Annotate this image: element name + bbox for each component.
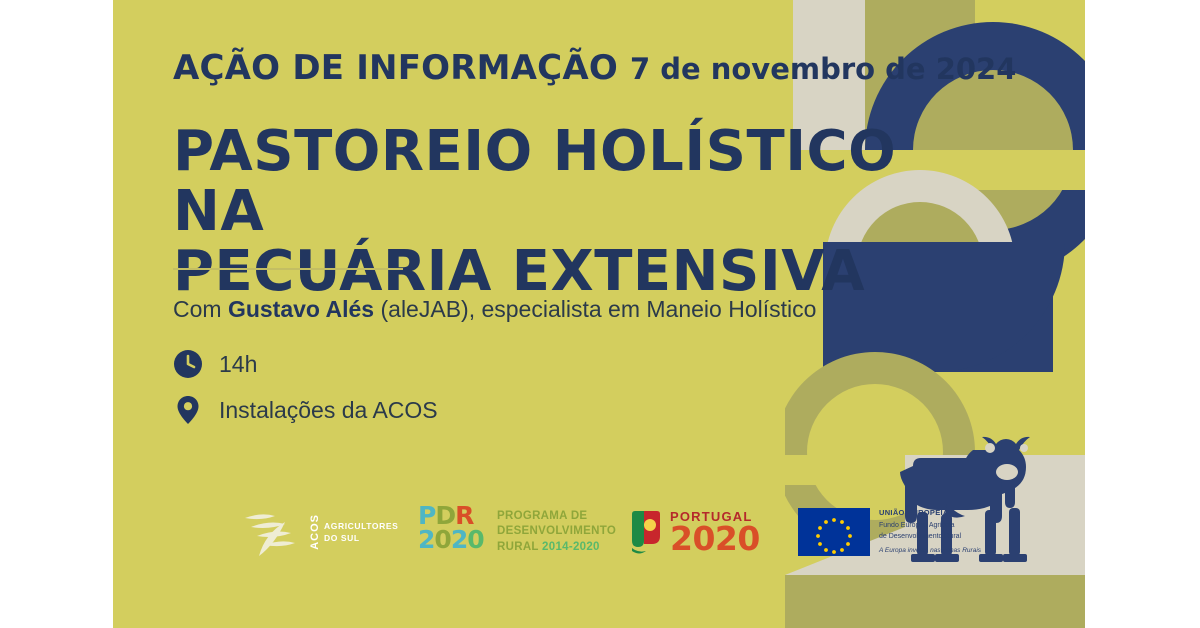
pdr-tagline-line-1: PROGRAMA DE bbox=[497, 509, 616, 524]
acos-tagline-line-1: AGRICULTORES bbox=[324, 520, 398, 532]
portugal-shield-icon bbox=[628, 508, 664, 556]
poster-content: AÇÃO DE INFORMAÇÃO7 de novembro de 2024 … bbox=[173, 0, 973, 628]
acos-wheat-icon bbox=[241, 504, 303, 560]
eu-title: UNIÃO EUROPEIA bbox=[879, 508, 981, 517]
acos-tagline-line-2: DO SUL bbox=[324, 532, 398, 544]
kicker-row: AÇÃO DE INFORMAÇÃO7 de novembro de 2024 bbox=[173, 48, 1016, 88]
speaker-suffix: (aleJAB), especialista em Maneio Holísti… bbox=[374, 296, 816, 322]
portugal-year: 2020 bbox=[670, 523, 760, 554]
portugal-wordmark: PORTUGAL 2020 bbox=[670, 510, 760, 554]
divider bbox=[173, 268, 403, 270]
page-title: PASTOREIO HOLÍSTICO NA PECUÁRIA EXTENSIV… bbox=[173, 122, 953, 302]
pdr-mark-line-2: 2020 bbox=[418, 528, 488, 552]
speaker-line: Com Gustavo Alés (aleJAB), especialista … bbox=[173, 296, 963, 323]
eu-fund-line-2: de Desenvolvimento Rural bbox=[879, 532, 981, 543]
poster-plate: AÇÃO DE INFORMAÇÃO7 de novembro de 2024 … bbox=[113, 0, 1085, 628]
pdr-mark: PDR 2020 bbox=[418, 504, 488, 560]
eu-text-block: UNIÃO EUROPEIA Fundo Europeu Agrícola de… bbox=[879, 508, 981, 555]
pdr-digit-0a: 0 bbox=[434, 525, 450, 554]
acos-wordmark: ACOS AGRICULTORES DO SUL bbox=[310, 514, 398, 550]
pdr-tagline: PROGRAMA DE DESENVOLVIMENTO RURAL 2014-2… bbox=[497, 509, 616, 555]
pdr-digit-2: 2 bbox=[418, 525, 434, 554]
clock-icon bbox=[173, 349, 203, 379]
pdr-tagline-line-3: RURAL 2014-2020 bbox=[497, 540, 616, 555]
pdr-tagline-line-2: DESENVOLVIMENTO bbox=[497, 524, 616, 539]
title-line-1: PASTOREIO HOLÍSTICO NA bbox=[173, 122, 953, 242]
event-time-row: 14h bbox=[173, 345, 438, 383]
map-pin-icon bbox=[173, 395, 203, 425]
portugal-2020-logo: PORTUGAL 2020 bbox=[628, 490, 760, 574]
kicker-label: AÇÃO DE INFORMAÇÃO bbox=[173, 48, 618, 88]
european-union-logo: UNIÃO EUROPEIA Fundo Europeu Agrícola de… bbox=[798, 490, 981, 574]
poster-canvas: AÇÃO DE INFORMAÇÃO7 de novembro de 2024 … bbox=[0, 0, 1200, 628]
acos-tagline: AGRICULTORES DO SUL bbox=[324, 520, 398, 545]
pdr-digit-0b: 0 bbox=[467, 525, 483, 554]
speaker-name: Gustavo Alés bbox=[228, 296, 374, 322]
eu-fund-name: Fundo Europeu Agrícola de Desenvolviment… bbox=[879, 521, 981, 542]
event-location: Instalações da ACOS bbox=[219, 397, 438, 424]
acos-logo: ACOS AGRICULTORES DO SUL bbox=[241, 490, 398, 574]
acos-vertical-text: ACOS bbox=[310, 514, 321, 550]
eu-fund-line-1: Fundo Europeu Agrícola bbox=[879, 521, 981, 532]
logo-strip: ACOS AGRICULTORES DO SUL PDR 2020 bbox=[233, 490, 1033, 580]
pdr-tagline-rural: RURAL bbox=[497, 541, 542, 553]
event-date: 7 de novembro de 2024 bbox=[630, 52, 1016, 86]
title-line-2: PECUÁRIA EXTENSIVA bbox=[173, 242, 953, 302]
pdr-tagline-years: 2014-2020 bbox=[542, 541, 600, 553]
eu-slogan: A Europa investe nas Zonas Rurais bbox=[879, 546, 981, 555]
event-time: 14h bbox=[219, 351, 257, 378]
speaker-prefix: Com bbox=[173, 296, 228, 322]
event-location-row: Instalações da ACOS bbox=[173, 391, 438, 429]
eu-flag-icon bbox=[798, 508, 870, 556]
pdr-2020-logo: PDR 2020 PROGRAMA DE DESENVOLVIMENTO RUR… bbox=[418, 490, 616, 574]
event-details: 14h Instalações da ACOS bbox=[173, 345, 438, 437]
pdr-digit-2b: 2 bbox=[451, 525, 467, 554]
